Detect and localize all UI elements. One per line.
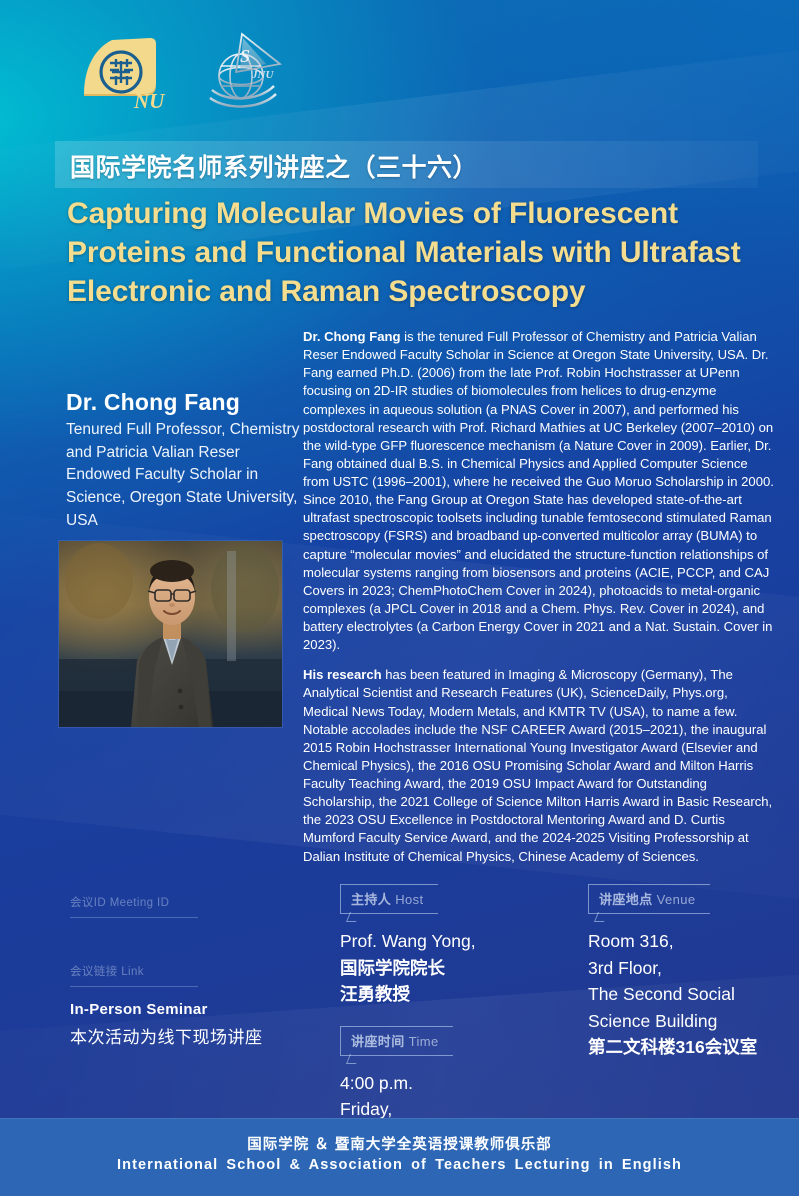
svg-text:S: S — [240, 46, 250, 66]
venue-line-4: Science Building — [588, 1008, 793, 1035]
speaker-affiliation: Tenured Full Professor, Chemistry and Pa… — [66, 419, 301, 532]
time-label-cn: 讲座时间 — [351, 1034, 405, 1049]
meeting-info-column: 会议ID Meeting ID 会议链接 Link In-Person Semi… — [70, 893, 320, 1048]
seminar-poster: NU S JNU 国际学院名师系列 — [0, 0, 799, 1196]
venue-line-1: Room 316, — [588, 928, 793, 955]
bio-p1-lead: Dr. Chong Fang — [303, 329, 400, 344]
bio-paragraph-1: Dr. Chong Fang is the tenured Full Profe… — [303, 328, 775, 654]
bio-p1-body: is the tenured Full Professor of Chemist… — [303, 329, 774, 652]
time-clock: 4:00 p.m. — [340, 1070, 575, 1097]
bio-p2-lead: His research — [303, 667, 382, 682]
speaker-photo — [59, 541, 282, 727]
seminar-mode-en: In-Person Seminar — [70, 1001, 320, 1018]
venue-label-bubble: 讲座地点 Venue — [588, 884, 710, 914]
host-name-cn: 汪勇教授 — [340, 981, 575, 1008]
meeting-link-label: 会议链接 Link — [70, 963, 198, 987]
footer-bar: 国际学院 ＆ 暨南大学全英语授课教师俱乐部 International Scho… — [0, 1118, 799, 1196]
lecture-title: Capturing Molecular Movies of Fluorescen… — [67, 194, 767, 311]
host-label-en: Host — [395, 892, 423, 907]
jnu-logo: NU — [72, 28, 174, 114]
host-label-bubble: 主持人 Host — [340, 884, 438, 914]
series-title-cn: 国际学院名师系列讲座之（三十六） — [70, 148, 478, 184]
venue-details: Room 316, 3rd Floor, The Second Social S… — [588, 928, 793, 1061]
svg-text:JNU: JNU — [251, 69, 274, 81]
meeting-id-spacer — [70, 918, 320, 962]
venue-label-cn: 讲座地点 — [599, 892, 653, 907]
time-label-en: Time — [409, 1034, 439, 1049]
seminar-mode-cn: 本次活动为线下现场讲座 — [70, 1023, 320, 1048]
speaker-name: Dr. Chong Fang — [66, 389, 240, 416]
host-name-en: Prof. Wang Yong, — [340, 928, 575, 955]
time-label-bubble: 讲座时间 Time — [340, 1026, 453, 1056]
venue-label-en: Venue — [657, 892, 696, 907]
host-label-cn: 主持人 — [351, 892, 391, 907]
venue-line-3: The Second Social — [588, 981, 793, 1008]
host-details: Prof. Wang Yong, 国际学院院长 汪勇教授 — [340, 928, 575, 1008]
bio-paragraph-2: His research has been featured in Imagin… — [303, 666, 775, 865]
bio-p2-body: has been featured in Imaging & Microscop… — [303, 667, 772, 863]
host-title-cn: 国际学院院长 — [340, 955, 575, 982]
meeting-id-label: 会议ID Meeting ID — [70, 894, 198, 918]
host-and-time-column: 主持人 Host Prof. Wang Yong, 国际学院院长 汪勇教授 讲座… — [340, 884, 575, 1150]
biography: Dr. Chong Fang is the tenured Full Profe… — [303, 328, 775, 878]
footer-org-cn: 国际学院 ＆ 暨南大学全英语授课教师俱乐部 — [0, 1133, 799, 1154]
footer-org-en: International School & Association of Te… — [0, 1157, 799, 1173]
venue-line-cn: 第二文科楼316会议室 — [588, 1034, 793, 1061]
svg-text:NU: NU — [133, 89, 166, 113]
international-school-logo: S JNU — [196, 28, 296, 114]
speaker-portrait-image — [59, 541, 282, 727]
venue-column: 讲座地点 Venue Room 316, 3rd Floor, The Seco… — [588, 884, 793, 1061]
venue-line-2: 3rd Floor, — [588, 955, 793, 982]
logo-row: NU S JNU — [72, 28, 296, 114]
host-time-gap — [340, 1008, 575, 1026]
